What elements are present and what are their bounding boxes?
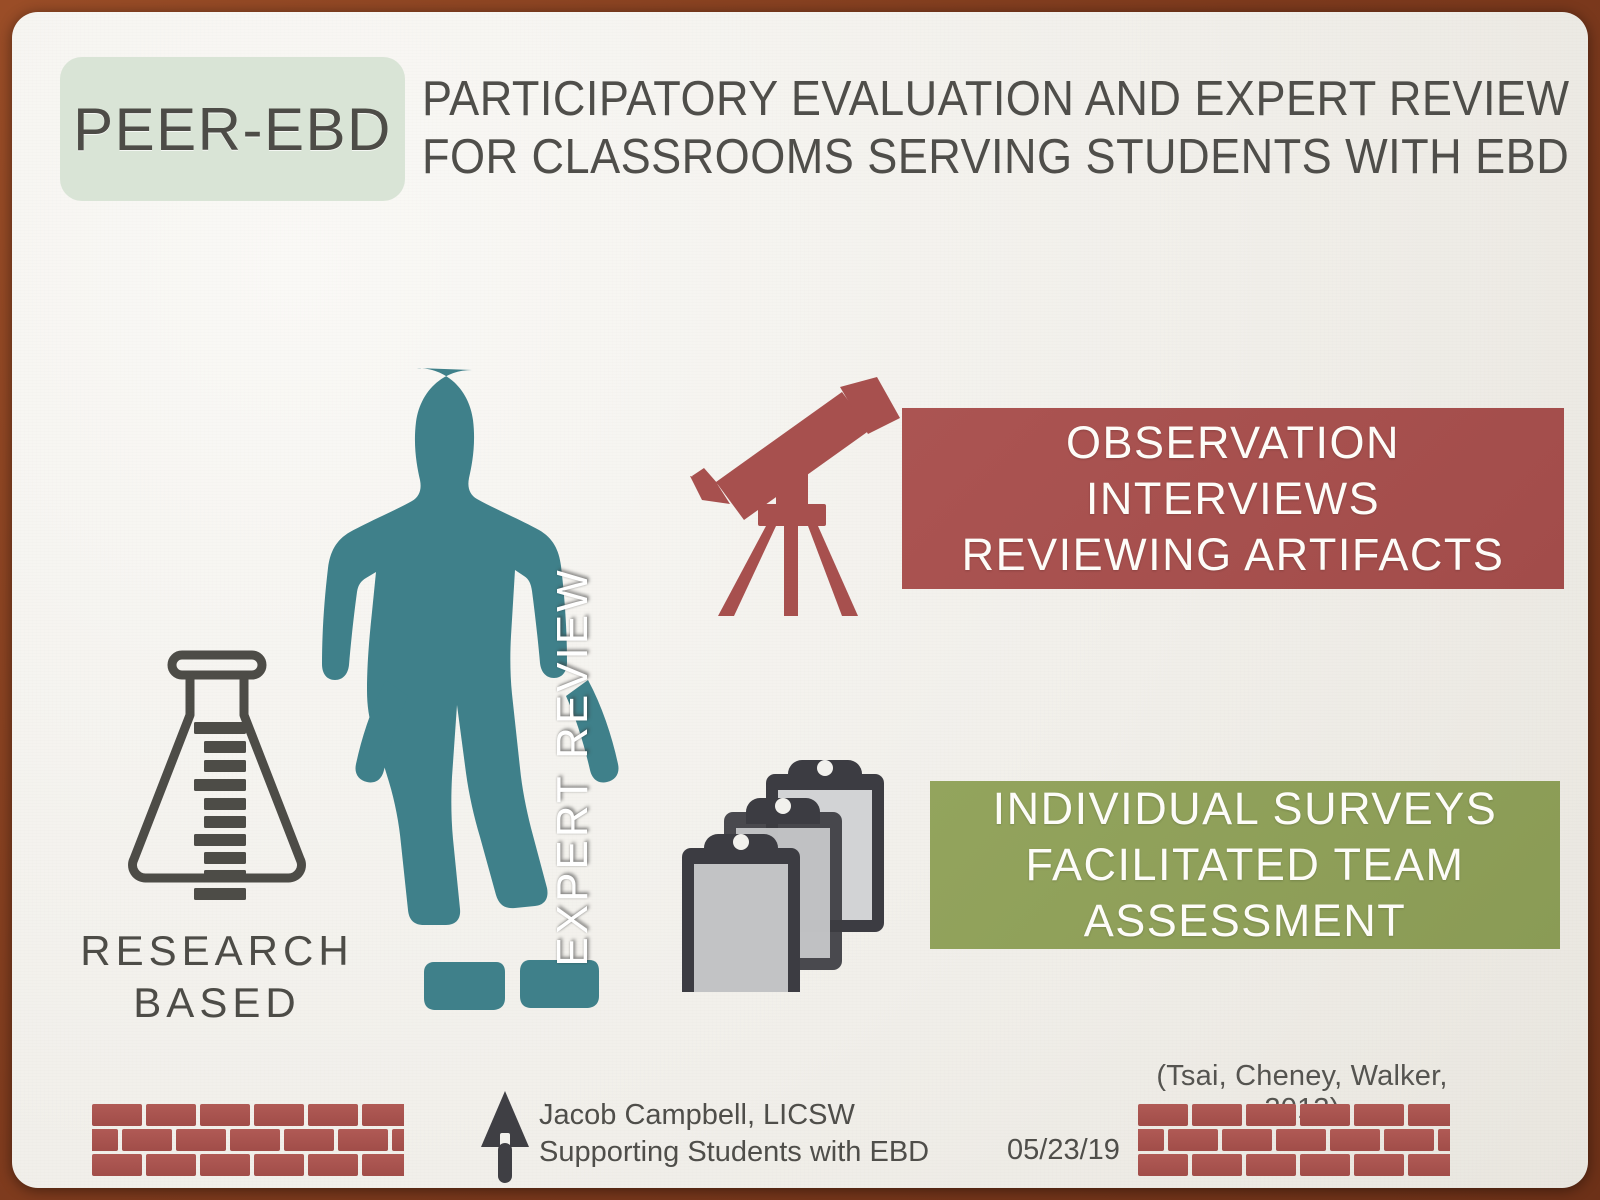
footer-author-name: Jacob Campbell, LICSW bbox=[539, 1097, 929, 1134]
clipboards-icon bbox=[674, 742, 894, 992]
brick-row bbox=[1138, 1154, 1450, 1176]
person-silhouette-icon bbox=[322, 362, 652, 1012]
slide-frame: PEER-EBD PARTICIPATORY EVALUATION AND EX… bbox=[0, 0, 1600, 1200]
survey-methods-line-1: INDIVIDUAL SURVEYS bbox=[993, 781, 1498, 837]
brick-row bbox=[1138, 1129, 1450, 1151]
erlenmeyer-flask-icon bbox=[112, 627, 322, 907]
footer-author-block: Jacob Campbell, LICSW Supporting Student… bbox=[539, 1097, 929, 1171]
survey-methods-callout: INDIVIDUAL SURVEYS FACILITATED TEAM ASSE… bbox=[930, 781, 1560, 949]
clipboard-front bbox=[682, 834, 800, 992]
trowel-icon bbox=[477, 1085, 533, 1187]
brick-row bbox=[92, 1154, 404, 1176]
survey-methods-line-2: FACILITATED TEAM bbox=[1025, 837, 1464, 893]
page-title: PARTICIPATORY EVALUATION AND EXPERT REVI… bbox=[422, 70, 1466, 186]
brick-row bbox=[1138, 1104, 1450, 1126]
research-based-group: RESEARCH BASED bbox=[72, 627, 362, 1029]
brick-row bbox=[92, 1104, 404, 1126]
research-based-label-line-2: BASED bbox=[72, 977, 362, 1029]
brick-row bbox=[92, 1129, 404, 1151]
observation-methods-line-3: REVIEWING ARTIFACTS bbox=[962, 527, 1505, 583]
peer-ebd-badge: PEER-EBD bbox=[60, 57, 405, 201]
survey-methods-line-3: ASSESSMENT bbox=[1084, 893, 1407, 949]
footer-course-name: Supporting Students with EBD bbox=[539, 1134, 929, 1171]
telescope-icon bbox=[672, 372, 902, 622]
observation-methods-callout: OBSERVATION INTERVIEWS REVIEWING ARTIFAC… bbox=[902, 408, 1564, 589]
observation-methods-line-2: INTERVIEWS bbox=[1086, 471, 1380, 527]
page-title-line-1: PARTICIPATORY EVALUATION AND EXPERT REVI… bbox=[422, 70, 1466, 128]
footer-date: 05/23/19 bbox=[1007, 1134, 1120, 1167]
brick-wall-left bbox=[92, 1104, 404, 1176]
research-based-label-line-1: RESEARCH bbox=[72, 925, 362, 977]
slide-canvas: PEER-EBD PARTICIPATORY EVALUATION AND EX… bbox=[12, 12, 1588, 1188]
peer-ebd-badge-label: PEER-EBD bbox=[73, 95, 392, 164]
expert-review-label: EXPERT REVIEW bbox=[548, 507, 598, 1027]
page-title-line-2: FOR CLASSROOMS SERVING STUDENTS WITH EBD bbox=[422, 128, 1466, 186]
observation-methods-line-1: OBSERVATION bbox=[1066, 415, 1400, 471]
brick-wall-right bbox=[1138, 1104, 1450, 1176]
research-based-label: RESEARCH BASED bbox=[72, 925, 362, 1029]
